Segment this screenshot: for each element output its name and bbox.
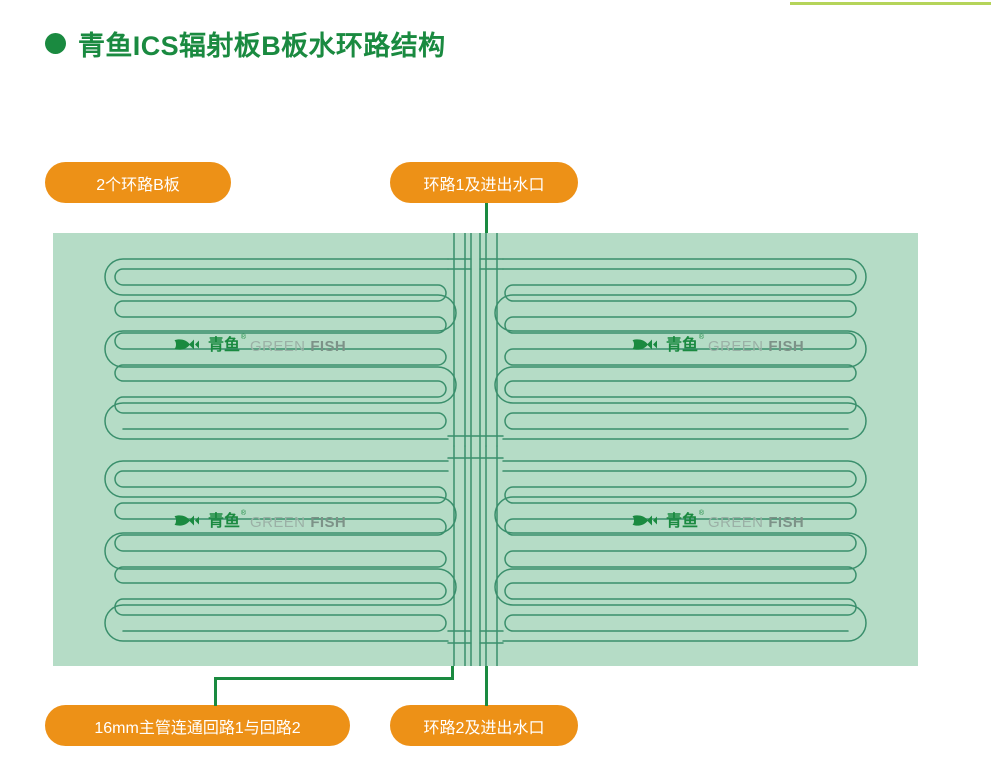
trunk-inner xyxy=(471,233,480,666)
logo-cn-text: 青鱼® xyxy=(208,514,240,530)
page-title: 青鱼ICS辐射板B板水环路结构 xyxy=(45,24,446,63)
logo-cn-text: 青鱼® xyxy=(208,338,240,354)
logo-word-green: GREEN xyxy=(250,339,305,354)
connector-loop2 xyxy=(485,666,488,706)
brand-logo-bottom-right: 青鱼® GREEN FISH xyxy=(631,513,804,531)
logo-word-fish: FISH xyxy=(310,515,346,530)
fish-icon xyxy=(631,513,661,531)
brand-logo-top-right: 青鱼® GREEN FISH xyxy=(631,337,804,355)
logo-word-fish: FISH xyxy=(310,339,346,354)
connector-main-pipe-horizontal xyxy=(214,677,454,680)
connector-main-pipe-drop xyxy=(214,677,217,706)
logo-word-fish: FISH xyxy=(768,515,804,530)
brand-logo-top-left: 青鱼® GREEN FISH xyxy=(173,337,346,355)
registered-mark: ® xyxy=(699,334,704,341)
top-accent-rule xyxy=(790,2,991,5)
trunk-loop1 xyxy=(454,233,465,666)
fish-icon xyxy=(173,337,203,355)
registered-mark: ® xyxy=(241,334,246,341)
logo-word-fish: FISH xyxy=(768,339,804,354)
registered-mark: ® xyxy=(699,510,704,517)
logo-word-green: GREEN xyxy=(708,515,763,530)
logo-word-green: GREEN xyxy=(708,339,763,354)
right-panel-loop2 xyxy=(495,461,866,641)
logo-cn-text: 青鱼® xyxy=(666,338,698,354)
radiant-panel-board xyxy=(53,233,918,666)
logo-cn-text: 青鱼® xyxy=(666,514,698,530)
pipe-layout-svg xyxy=(53,233,918,666)
left-panel-loop2 xyxy=(105,461,456,641)
label-b-board[interactable]: 2个环路B板 xyxy=(45,162,231,203)
diagram-page: 青鱼ICS辐射板B板水环路结构 2个环路B板 环路1及进出水口 16mm主管连通… xyxy=(0,0,991,772)
fish-icon xyxy=(631,337,661,355)
manifold-middle xyxy=(448,436,503,458)
logo-word-green: GREEN xyxy=(250,515,305,530)
manifold-top xyxy=(448,259,503,269)
label-main-pipe[interactable]: 16mm主管连通回路1与回路2 xyxy=(45,705,350,746)
connector-loop1 xyxy=(485,203,488,235)
fish-icon xyxy=(173,513,203,531)
registered-mark: ® xyxy=(241,510,246,517)
page-title-text: 青鱼ICS辐射板B板水环路结构 xyxy=(78,24,446,63)
label-loop2-inlet-outlet[interactable]: 环路2及进出水口 xyxy=(390,705,578,746)
label-loop1-inlet-outlet[interactable]: 环路1及进出水口 xyxy=(390,162,578,203)
manifold-bottom xyxy=(448,631,503,643)
circle-bullet-icon xyxy=(45,33,66,54)
trunk-loop2 xyxy=(486,233,497,666)
brand-logo-bottom-left: 青鱼® GREEN FISH xyxy=(173,513,346,531)
